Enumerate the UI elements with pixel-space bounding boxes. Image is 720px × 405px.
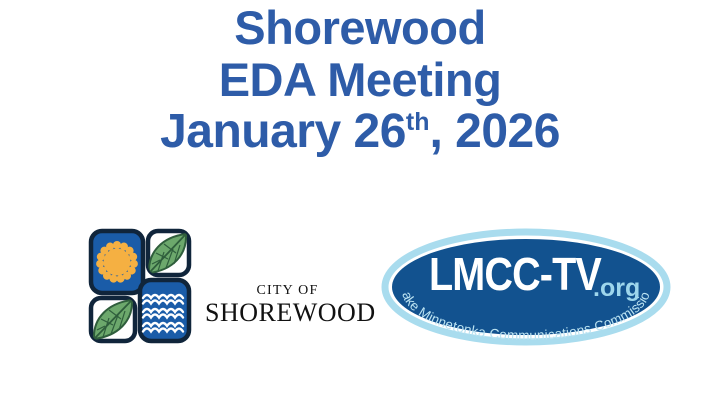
date-ordinal-suffix: th <box>406 108 430 136</box>
date-suffix: , 2026 <box>429 105 559 158</box>
lmcc-tv-logo: LMCC-TV .org Lake Minnetonka Communicati… <box>380 228 672 346</box>
waves-panel <box>140 280 189 341</box>
city-of-shorewood-logo-mark <box>88 228 192 344</box>
city-of-shorewood-wordmark: CITY OF SHOREWOOD <box>205 283 370 327</box>
sun-panel <box>91 231 143 293</box>
wordmark-shorewood: SHOREWOOD <box>205 299 370 327</box>
title-line-shorewood: Shorewood <box>0 2 720 54</box>
lmcc-org-suffix: .org <box>593 274 640 302</box>
leaf-panel-bottom <box>91 298 135 341</box>
title-line-eda-meeting: EDA Meeting <box>0 54 720 106</box>
title-line-date: January 26th, 2026 <box>0 106 720 158</box>
leaf-panel-top <box>148 231 189 275</box>
wordmark-city-of: CITY OF <box>205 283 370 299</box>
slide-title-block: Shorewood EDA Meeting January 26th, 2026 <box>0 0 720 158</box>
date-prefix: January 26 <box>160 105 406 158</box>
lmcc-main-wordmark: LMCC-TV <box>429 249 602 300</box>
